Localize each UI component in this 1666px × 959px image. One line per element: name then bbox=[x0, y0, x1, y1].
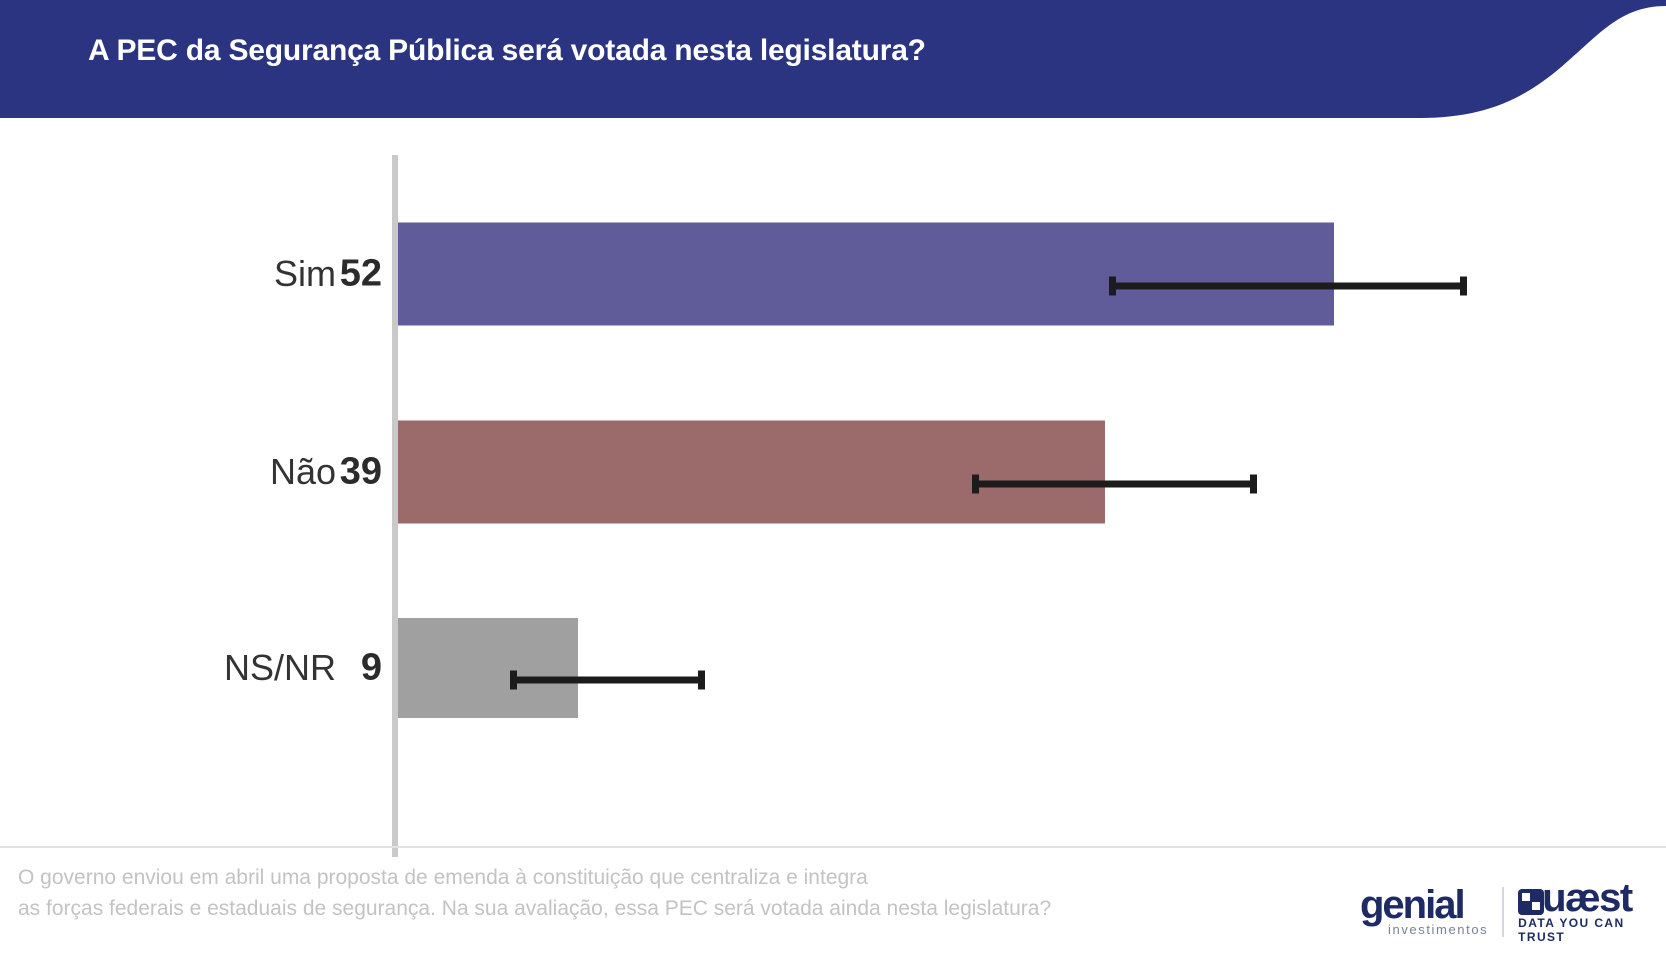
value-label-nao: 39 bbox=[300, 451, 382, 494]
genial-logo: genial investimentos bbox=[1360, 887, 1488, 937]
value-label-nsnr: 9 bbox=[300, 647, 382, 690]
quaest-logo: uæst DATA YOU CAN TRUST bbox=[1518, 880, 1666, 944]
error-cap-low-nao bbox=[972, 475, 979, 494]
footer-divider bbox=[0, 846, 1666, 848]
logo-divider bbox=[1502, 887, 1504, 937]
error-cap-high-nao bbox=[1250, 475, 1257, 494]
slide-root: A PEC da Segurança Pública será votada n… bbox=[0, 0, 1666, 959]
error-cap-low-sim bbox=[1109, 277, 1116, 296]
quaest-q-icon bbox=[1518, 889, 1544, 915]
page-title: A PEC da Segurança Pública será votada n… bbox=[88, 34, 926, 68]
error-cap-low-nsnr bbox=[510, 671, 517, 690]
error-bar-sim bbox=[1109, 283, 1467, 290]
quaest-logo-tagline: DATA YOU CAN TRUST bbox=[1518, 916, 1666, 944]
bar-nsnr[interactable] bbox=[398, 618, 578, 718]
bar-nao[interactable] bbox=[398, 421, 1105, 524]
quaest-logo-text: uæst bbox=[1542, 876, 1632, 920]
value-label-sim: 52 bbox=[300, 253, 382, 296]
error-bar-nsnr bbox=[510, 677, 705, 684]
footnote-line-1: O governo enviou em abril uma proposta d… bbox=[18, 862, 1051, 893]
genial-logo-wordmark: genial bbox=[1360, 887, 1464, 923]
bar-sim[interactable] bbox=[398, 223, 1334, 326]
footnote: O governo enviou em abril uma proposta d… bbox=[18, 862, 1051, 924]
logo-group: genial investimentos uæst DATA YOU CAN T… bbox=[1360, 880, 1666, 944]
error-bar-nao bbox=[972, 481, 1257, 488]
error-cap-high-sim bbox=[1460, 277, 1467, 296]
footnote-line-2: as forças federais e estaduais de segura… bbox=[18, 893, 1051, 924]
quaest-logo-wordmark: uæst bbox=[1518, 880, 1632, 916]
header-banner: A PEC da Segurança Pública será votada n… bbox=[0, 0, 1666, 130]
error-cap-high-nsnr bbox=[698, 671, 705, 690]
genial-logo-tagline: investimentos bbox=[1360, 923, 1488, 937]
chart-plot-area: Sim 52 Não 39 NS/NR 9 bbox=[0, 130, 1666, 840]
